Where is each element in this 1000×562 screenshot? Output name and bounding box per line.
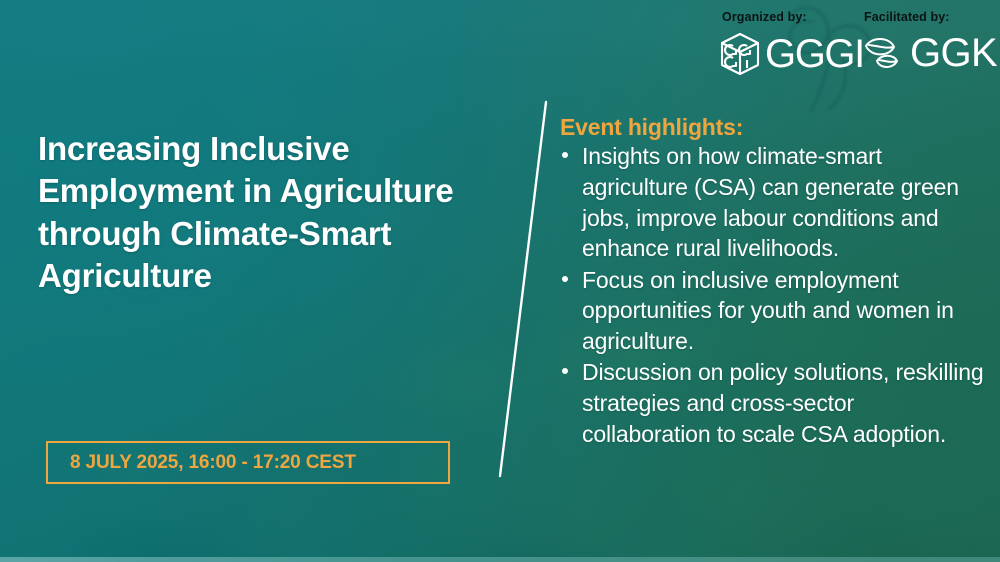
event-highlights: Event highlights: Insights on how climat… [556, 114, 988, 450]
event-banner: Organized by: Facilitated by: GGGI [0, 0, 1000, 562]
cube-logo-icon [716, 30, 764, 78]
organized-by-label: Organized by: [722, 10, 807, 24]
list-item: Discussion on policy solutions, reskilli… [556, 357, 988, 449]
highlights-list: Insights on how climate-smart agricultur… [556, 141, 988, 449]
highlights-heading: Event highlights: [560, 114, 988, 140]
list-item: Insights on how climate-smart agricultur… [556, 141, 988, 263]
event-date-badge: 8 JULY 2025, 16:00 - 17:20 CEST [46, 441, 450, 484]
leaf-logo-icon [860, 30, 906, 76]
page-title: Increasing Inclusive Employment in Agric… [38, 128, 538, 298]
bullet-dot-icon [562, 368, 568, 374]
list-item: Focus on inclusive employment opportunit… [556, 265, 988, 357]
bullet-dot-icon [562, 152, 568, 158]
gggi-wordmark: GGGI [765, 34, 864, 74]
logo-row: Organized by: Facilitated by: GGGI [712, 10, 994, 96]
bullet-dot-icon [562, 276, 568, 282]
ggkp-wordmark: GGKP [910, 33, 1000, 73]
list-item-text: Discussion on policy solutions, reskilli… [582, 359, 984, 446]
list-item-text: Insights on how climate-smart agricultur… [582, 143, 959, 261]
gggi-logo[interactable]: GGGI [716, 30, 864, 78]
bottom-accent-strip [0, 557, 1000, 562]
event-date-text: 8 JULY 2025, 16:00 - 17:20 CEST [48, 452, 356, 474]
list-item-text: Focus on inclusive employment opportunit… [582, 267, 954, 354]
ggkp-logo[interactable]: GGKP [860, 30, 1000, 76]
facilitated-by-label: Facilitated by: [864, 10, 950, 24]
